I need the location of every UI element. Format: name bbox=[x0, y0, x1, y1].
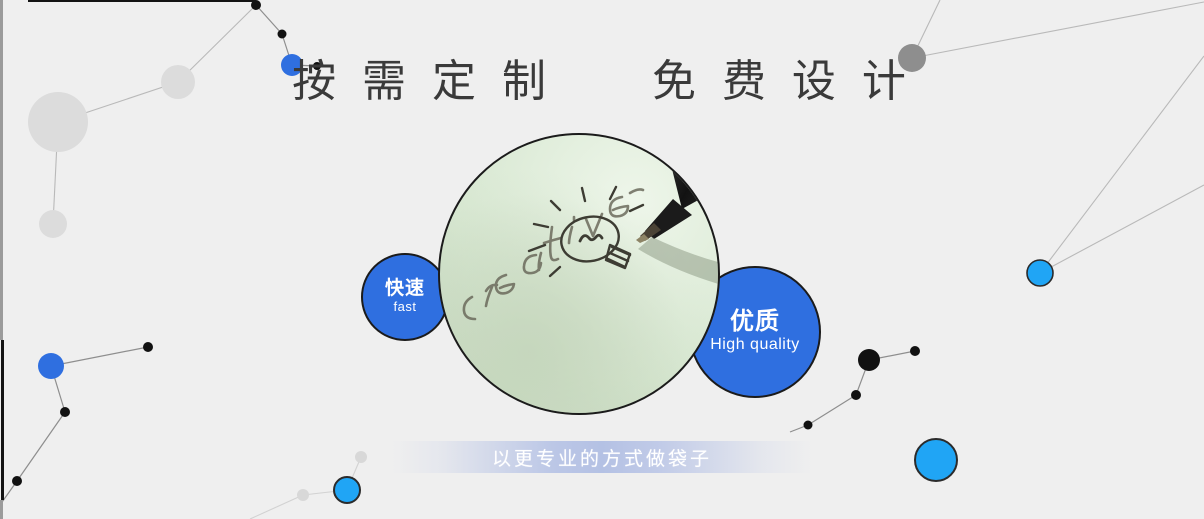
center-composition: 快速 fast 优质 High quality bbox=[0, 0, 1204, 519]
creative-photo-circle bbox=[438, 133, 720, 415]
feature-bubble-quality-en: High quality bbox=[710, 335, 800, 356]
tagline-text: 以更专业的方式做袋子 bbox=[492, 444, 712, 471]
creative-sketch-illustration bbox=[440, 135, 720, 415]
banner-stage: 按 需 定 制 免 费 设 计 快速 fast 优质 High quality bbox=[0, 0, 1204, 519]
feature-bubble-fast-en: fast bbox=[394, 299, 417, 316]
feature-bubble-fast[interactable]: 快速 fast bbox=[361, 253, 449, 341]
tagline-ribbon: 以更专业的方式做袋子 bbox=[392, 441, 812, 473]
feature-bubble-fast-cn: 快速 bbox=[385, 278, 425, 300]
feature-bubble-quality-cn: 优质 bbox=[730, 308, 780, 336]
